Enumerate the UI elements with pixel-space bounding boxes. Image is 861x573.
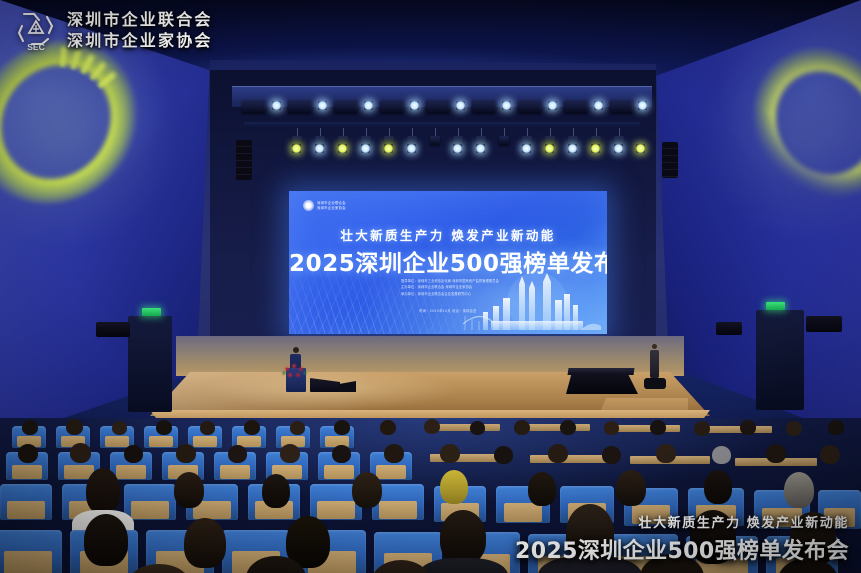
stage-light bbox=[499, 136, 509, 145]
audience-member bbox=[128, 564, 190, 573]
audience-member bbox=[18, 444, 38, 463]
wall-speaker-right bbox=[806, 316, 842, 332]
audience-member bbox=[228, 445, 247, 463]
audience-member bbox=[616, 470, 646, 506]
shenzhen-skyline-silhouette bbox=[463, 272, 601, 330]
audience-member bbox=[200, 421, 215, 435]
wall-monitor-right bbox=[716, 322, 742, 335]
audience-member bbox=[176, 444, 196, 463]
stage-light bbox=[564, 100, 588, 113]
equipment-bag bbox=[644, 378, 666, 389]
writing-desk bbox=[610, 425, 680, 432]
audience-member bbox=[22, 420, 38, 435]
crew-body bbox=[650, 350, 659, 378]
audience-member bbox=[440, 444, 460, 463]
writing-desk bbox=[430, 424, 500, 431]
stage-light bbox=[610, 100, 634, 113]
grand-piano bbox=[566, 372, 638, 394]
stage-light bbox=[334, 100, 358, 113]
audience-member bbox=[86, 468, 120, 514]
yellow-beam bbox=[545, 144, 554, 153]
stage-light bbox=[472, 100, 496, 113]
yellow-beam bbox=[636, 144, 645, 153]
white-beam bbox=[272, 101, 281, 110]
audience-member bbox=[784, 472, 814, 508]
audience-member bbox=[244, 420, 260, 435]
white-beam bbox=[548, 101, 557, 110]
watermark-title: 2025深圳企业500强榜单发布会 bbox=[515, 533, 849, 565]
audience-member bbox=[280, 444, 300, 463]
writing-desk bbox=[530, 455, 608, 463]
writing-desk bbox=[700, 426, 772, 433]
white-beam bbox=[522, 144, 531, 153]
audience-member bbox=[820, 445, 840, 464]
theater-seat[interactable] bbox=[0, 484, 52, 520]
white-beam bbox=[315, 144, 324, 153]
overlay-brand-logo: SEC 深圳市企业联合会 深圳市企业家协会 bbox=[14, 8, 213, 52]
secondary-lighting-bar bbox=[244, 122, 640, 128]
yellow-beam bbox=[292, 144, 301, 153]
white-beam bbox=[502, 101, 511, 110]
white-beam bbox=[364, 101, 373, 110]
audience-member bbox=[704, 470, 732, 504]
red-flower-arrangement bbox=[281, 362, 311, 382]
audience-member bbox=[712, 446, 731, 464]
white-beam bbox=[456, 101, 465, 110]
audience-member bbox=[290, 421, 305, 435]
audience-member bbox=[66, 419, 83, 435]
stage-light bbox=[426, 100, 450, 113]
white-beam bbox=[407, 144, 416, 153]
screen-logo-line1: 深圳市企业联合会 bbox=[317, 201, 346, 205]
crew-head bbox=[652, 344, 657, 349]
yellow-beam bbox=[384, 144, 393, 153]
screen-organization-logo: 深圳市企业联合会 深圳市企业家协会 bbox=[303, 200, 346, 211]
sec-emblem-icon bbox=[303, 200, 314, 211]
white-beam bbox=[318, 101, 327, 110]
audience-member bbox=[766, 444, 786, 463]
audience-member bbox=[380, 420, 396, 435]
side-door-right[interactable] bbox=[756, 310, 804, 410]
exit-sign-left bbox=[142, 308, 161, 316]
event-photo-canvas: 深圳市企业联合会 深圳市企业家协会 壮大新质生产力 焕发产业新动能 2025深圳… bbox=[0, 0, 861, 573]
watermark-subtitle: 壮大新质生产力 焕发产业新动能 bbox=[515, 512, 849, 531]
audience-member bbox=[332, 445, 351, 463]
white-beam bbox=[614, 144, 623, 153]
white-beam bbox=[638, 101, 647, 110]
white-beam bbox=[361, 144, 370, 153]
audience-member bbox=[548, 444, 568, 463]
stage-light bbox=[288, 100, 312, 113]
audience-member bbox=[602, 446, 621, 464]
audience-member bbox=[84, 514, 128, 566]
audience-member bbox=[384, 444, 404, 463]
audience-member bbox=[514, 420, 530, 435]
brand-line-2: 深圳市企业家协会 bbox=[67, 31, 213, 50]
audience-member bbox=[112, 421, 127, 435]
white-beam bbox=[568, 144, 577, 153]
slide-subtitle: 壮大新质生产力 焕发产业新动能 bbox=[289, 225, 607, 244]
white-beam bbox=[476, 144, 485, 153]
wall-speaker-left bbox=[96, 322, 130, 337]
audience-member bbox=[246, 556, 306, 573]
audience-member bbox=[440, 510, 486, 564]
white-beam bbox=[453, 144, 462, 153]
stage-light bbox=[518, 100, 542, 113]
audience-member bbox=[828, 420, 844, 435]
writing-desk bbox=[520, 424, 590, 431]
stage-light bbox=[242, 100, 266, 113]
audience-member bbox=[494, 446, 513, 464]
side-door-left[interactable] bbox=[128, 316, 172, 412]
audience-member bbox=[70, 443, 91, 463]
logo-abbr-text: SEC bbox=[27, 42, 44, 52]
audience-member bbox=[560, 420, 576, 435]
audience-member bbox=[470, 421, 485, 435]
presenter-head bbox=[293, 347, 299, 353]
exit-sign-right bbox=[766, 302, 785, 310]
audience-member bbox=[440, 470, 468, 504]
theater-seat[interactable] bbox=[124, 484, 176, 520]
audience-member bbox=[174, 472, 204, 508]
watermark-title-block: 壮大新质生产力 焕发产业新动能 2025深圳企业500强榜单发布会 bbox=[515, 512, 849, 565]
white-beam bbox=[594, 101, 603, 110]
audience-member bbox=[694, 421, 710, 436]
audience-member bbox=[334, 420, 350, 435]
audience-member bbox=[650, 420, 666, 435]
audience-member bbox=[424, 419, 440, 434]
shenzhen-enterprise-confederation-logo: SEC bbox=[14, 8, 58, 52]
audience-member bbox=[372, 560, 430, 573]
audience-member bbox=[124, 445, 143, 463]
audience-member bbox=[528, 472, 556, 506]
stage-light bbox=[380, 100, 404, 113]
yellow-beam bbox=[591, 144, 600, 153]
audience-member bbox=[604, 421, 619, 435]
white-beam bbox=[410, 101, 419, 110]
audience-member bbox=[656, 444, 676, 463]
line-array-speaker-right bbox=[662, 142, 678, 178]
audience-member bbox=[262, 474, 290, 508]
audience-member bbox=[156, 420, 172, 435]
line-array-speaker-left bbox=[236, 140, 252, 180]
audience-member bbox=[740, 420, 756, 435]
audience-member bbox=[352, 472, 382, 508]
screen-logo-line2: 深圳市企业家协会 bbox=[317, 206, 346, 210]
audience-member bbox=[184, 518, 226, 568]
stage-light bbox=[430, 136, 440, 145]
brand-line-1: 深圳市企业联合会 bbox=[67, 10, 213, 29]
stage-crew-member bbox=[650, 344, 659, 378]
yellow-beam bbox=[338, 144, 347, 153]
projection-screen: 深圳市企业联合会 深圳市企业家协会 壮大新质生产力 焕发产业新动能 2025深圳… bbox=[289, 191, 607, 334]
theater-seat[interactable] bbox=[0, 530, 62, 573]
audience-member bbox=[786, 421, 802, 436]
